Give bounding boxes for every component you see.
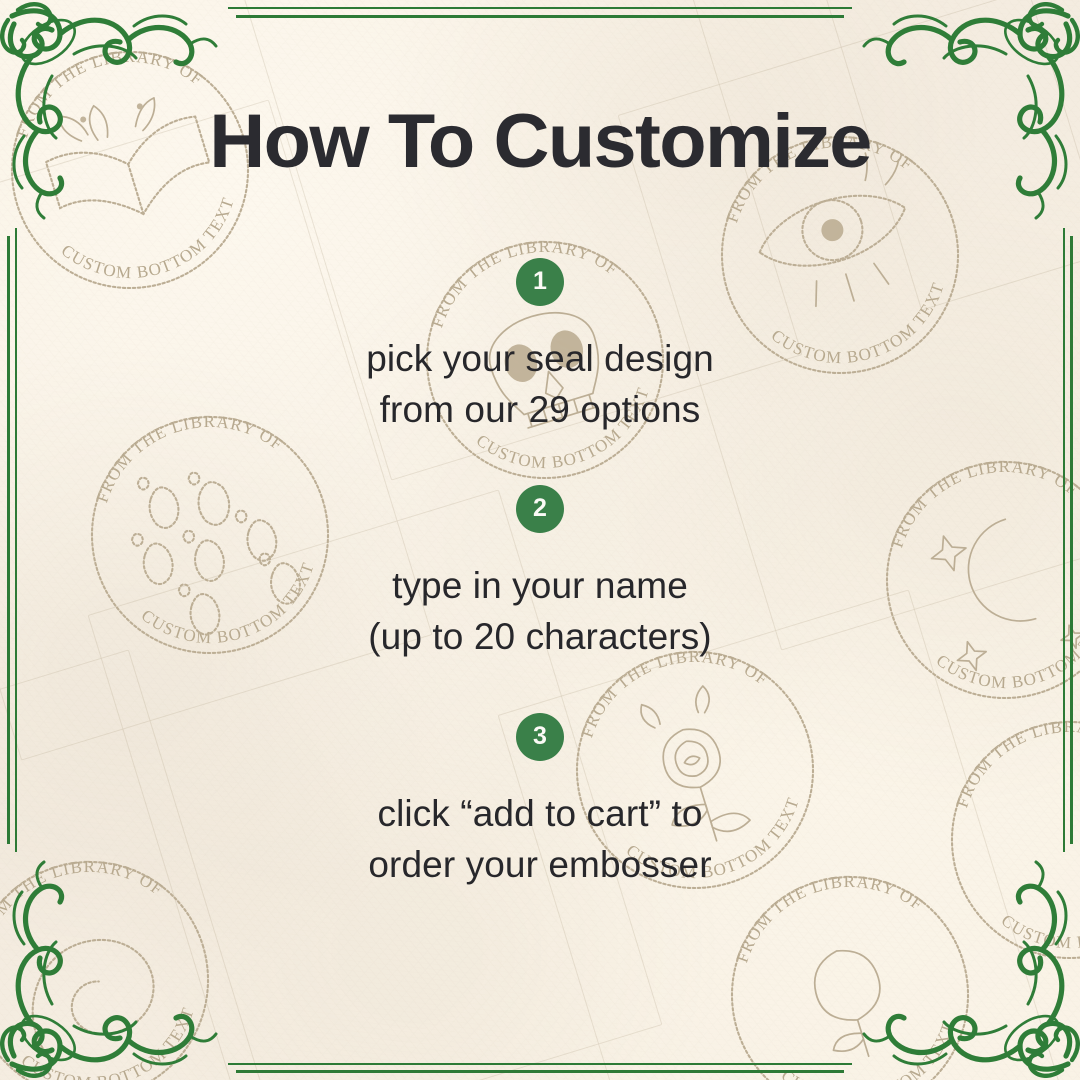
- content-area: How To Customize 1 pick your seal design…: [0, 0, 1080, 1080]
- step-badge-2: 2: [516, 485, 564, 533]
- step-badge-1: 1: [516, 258, 564, 306]
- step-text-3: click “add to cart” to order your emboss…: [368, 788, 711, 890]
- step-text-2: type in your name (up to 20 characters): [368, 560, 711, 662]
- step-badge-3: 3: [516, 713, 564, 761]
- steps-list: 1 pick your seal design from our 29 opti…: [0, 258, 1080, 890]
- step-item-1: 1 pick your seal design from our 29 opti…: [366, 258, 714, 435]
- promo-graphic: FROM THE LIBRARY OF CUSTOM BOTTOM TEXT F…: [0, 0, 1080, 1080]
- page-title: How To Customize: [0, 104, 1080, 180]
- step-item-2: 2 type in your name (up to 20 characters…: [368, 485, 711, 662]
- step-item-3: 3 click “add to cart” to order your embo…: [368, 713, 711, 890]
- step-text-1: pick your seal design from our 29 option…: [366, 333, 714, 435]
